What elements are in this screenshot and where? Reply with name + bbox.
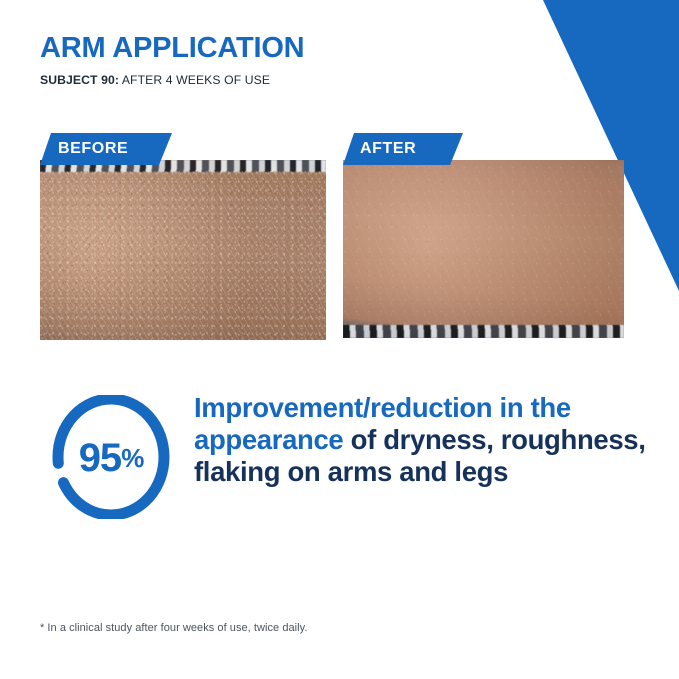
after-photo bbox=[343, 160, 624, 338]
after-skin-image bbox=[343, 160, 624, 338]
after-label-text: AFTER bbox=[360, 140, 416, 158]
before-photo-card bbox=[40, 160, 326, 340]
before-skin-speckle-texture bbox=[40, 171, 326, 340]
subject-label: SUBJECT 90: bbox=[40, 73, 119, 87]
after-label-banner: AFTER bbox=[343, 133, 463, 165]
percent-symbol: % bbox=[121, 443, 143, 474]
statistic-value: 95% bbox=[40, 395, 182, 519]
before-skin-image bbox=[40, 160, 326, 340]
after-photo-bottom-edge bbox=[343, 325, 624, 338]
statistic-description: Improvement/reduction in the appearance … bbox=[194, 392, 664, 489]
statistic-number: 95 bbox=[79, 436, 122, 481]
subject-detail: AFTER 4 WEEKS OF USE bbox=[119, 73, 270, 87]
after-skin-speckle-texture bbox=[343, 164, 624, 328]
after-photo-card bbox=[343, 160, 624, 338]
header: ARM APPLICATION SUBJECT 90: AFTER 4 WEEK… bbox=[40, 33, 510, 87]
subject-subtitle: SUBJECT 90: AFTER 4 WEEKS OF USE bbox=[40, 73, 510, 87]
before-photo bbox=[40, 160, 326, 340]
before-label-banner: BEFORE bbox=[40, 133, 172, 165]
footnote: * In a clinical study after four weeks o… bbox=[40, 622, 307, 634]
page-title: ARM APPLICATION bbox=[40, 33, 510, 63]
before-label-text: BEFORE bbox=[58, 140, 128, 158]
poster-canvas: ARM APPLICATION SUBJECT 90: AFTER 4 WEEK… bbox=[0, 0, 679, 679]
